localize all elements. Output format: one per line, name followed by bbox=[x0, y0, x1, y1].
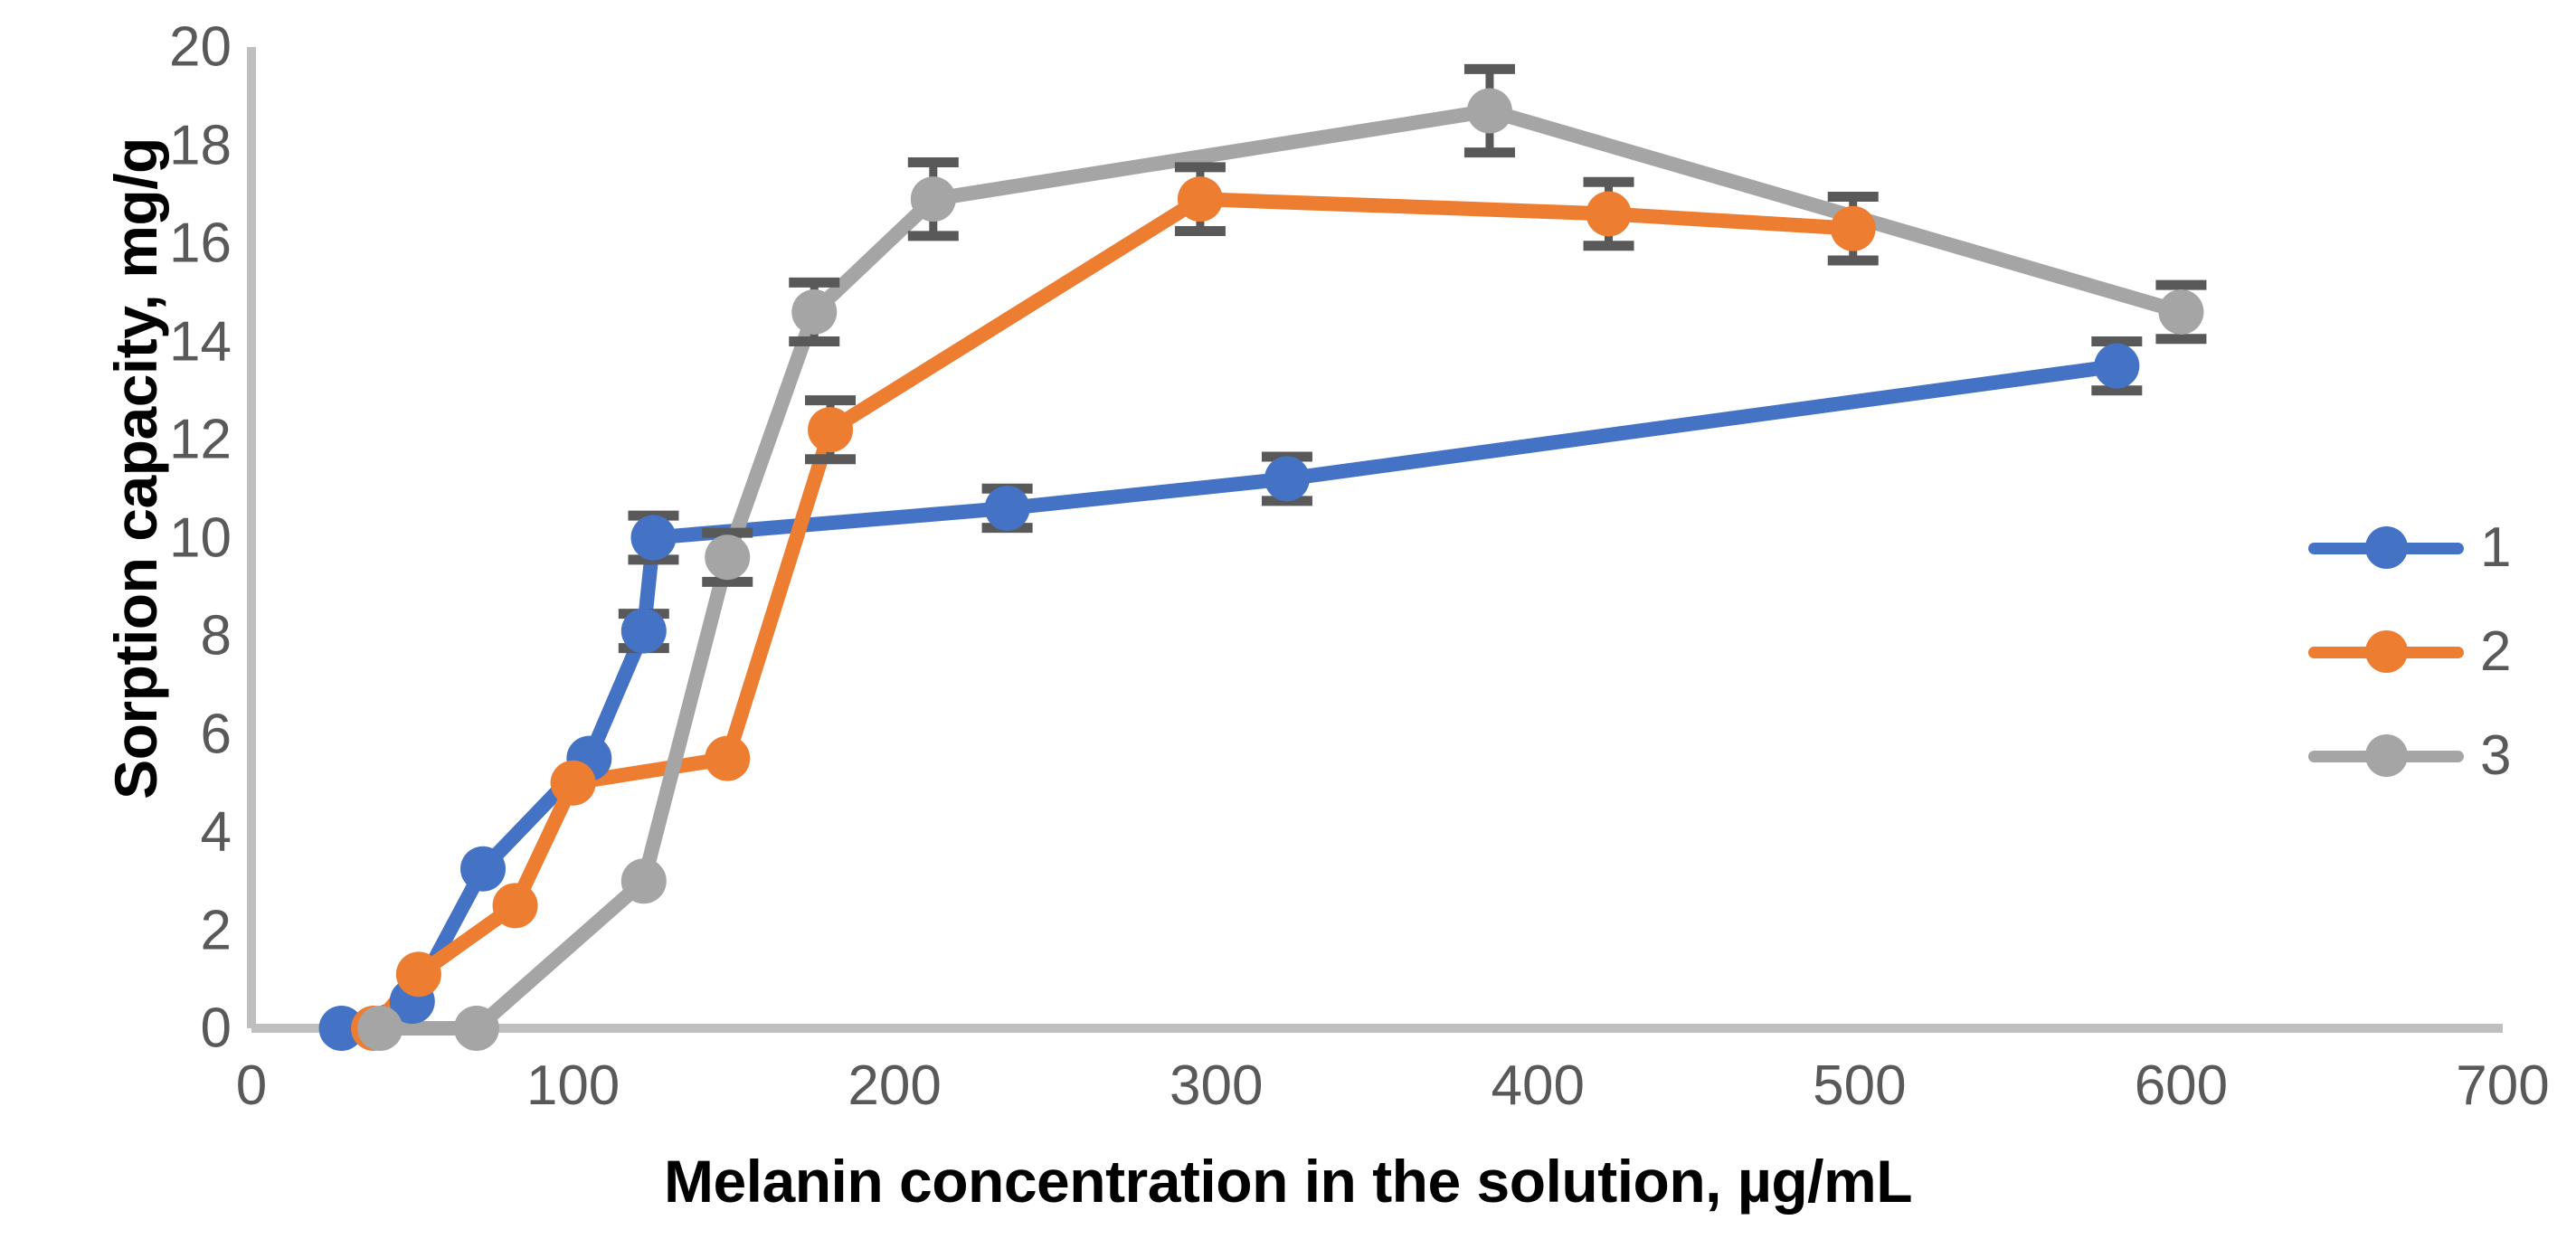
data-point bbox=[705, 534, 750, 580]
legend-label: 2 bbox=[2480, 624, 2511, 680]
legend-marker-3 bbox=[2308, 738, 2464, 774]
data-point bbox=[493, 883, 538, 928]
series-line-2 bbox=[374, 199, 1853, 1028]
legend-dot-icon bbox=[2365, 526, 2408, 569]
data-point bbox=[1586, 191, 1632, 236]
series-markers-2 bbox=[351, 167, 1879, 1051]
data-point bbox=[630, 515, 676, 561]
data-point bbox=[911, 176, 956, 222]
legend-item-1[interactable]: 1 bbox=[2308, 496, 2576, 600]
data-point bbox=[985, 486, 1030, 531]
data-point bbox=[621, 609, 667, 654]
plot-area bbox=[0, 0, 2576, 1239]
chart-figure: Sorption capacity, mg/g Melanin concentr… bbox=[0, 0, 2576, 1239]
data-point bbox=[460, 846, 506, 892]
legend-marker-1 bbox=[2308, 530, 2464, 566]
data-point bbox=[1264, 456, 1310, 501]
legend-dot-icon bbox=[2365, 630, 2408, 673]
data-point bbox=[621, 858, 667, 903]
series-markers-1 bbox=[319, 342, 2143, 1052]
legend-dot-icon bbox=[2365, 734, 2408, 777]
legend-item-2[interactable]: 2 bbox=[2308, 600, 2576, 704]
legend-marker-2 bbox=[2308, 634, 2464, 670]
data-point bbox=[1178, 176, 1223, 222]
legend-label: 1 bbox=[2480, 520, 2511, 576]
series-1 bbox=[342, 366, 2117, 1028]
legend-item-3[interactable]: 3 bbox=[2308, 704, 2576, 808]
data-point bbox=[1467, 89, 1512, 134]
legend: 123 bbox=[2308, 496, 2576, 808]
data-point bbox=[551, 761, 596, 806]
data-point bbox=[705, 736, 750, 781]
data-point bbox=[1831, 206, 1876, 251]
data-point bbox=[791, 289, 837, 335]
series-line-1 bbox=[342, 366, 2117, 1028]
data-point bbox=[2094, 344, 2139, 389]
data-point bbox=[454, 1006, 499, 1051]
data-point bbox=[2158, 289, 2203, 335]
data-point bbox=[396, 951, 441, 997]
series-2 bbox=[374, 199, 1853, 1028]
data-point bbox=[808, 407, 853, 452]
data-point bbox=[357, 1006, 402, 1051]
legend-label: 3 bbox=[2480, 728, 2511, 784]
